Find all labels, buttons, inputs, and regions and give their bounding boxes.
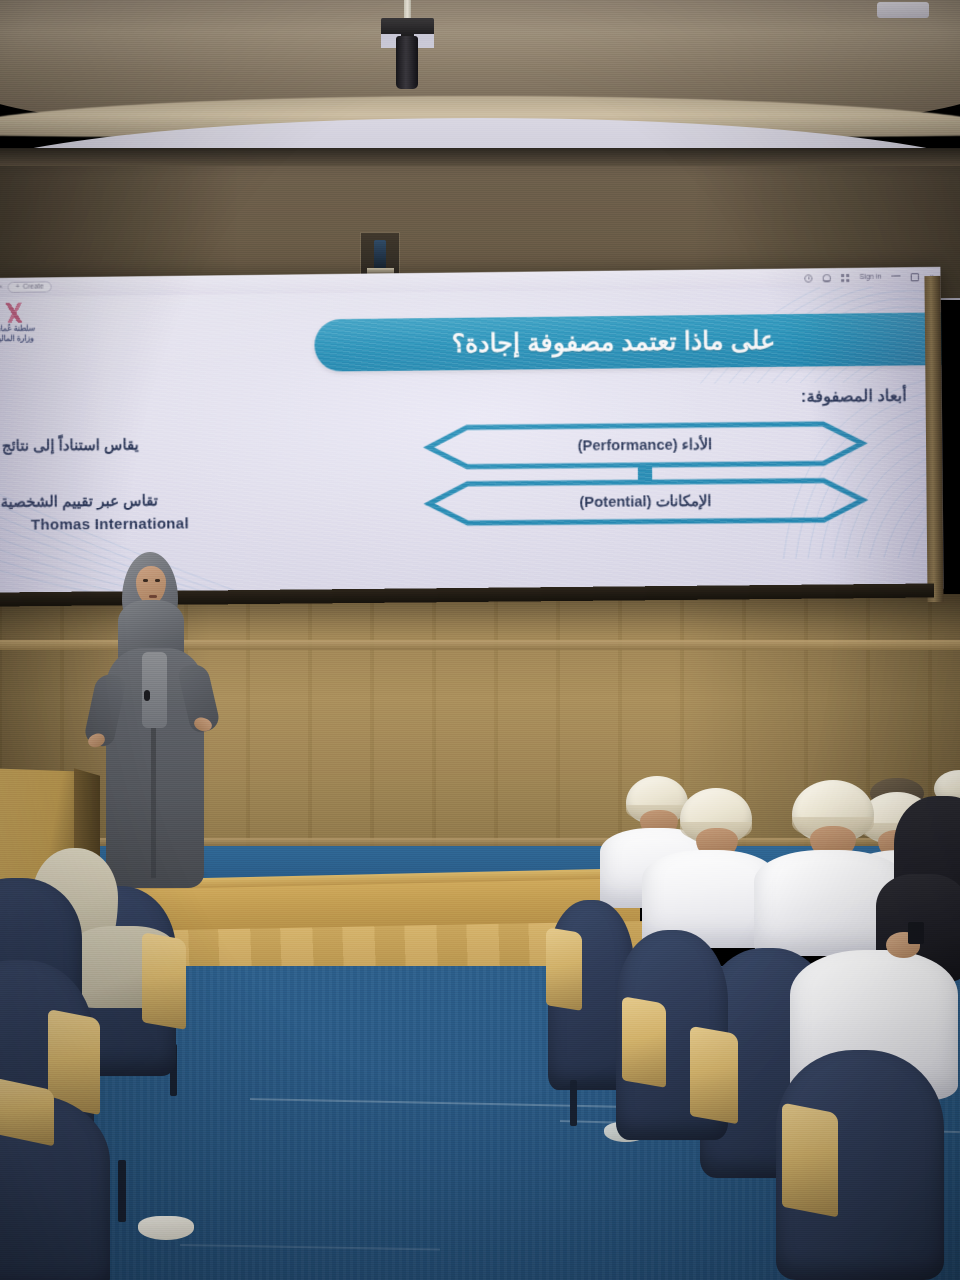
ceiling-projector [396, 36, 418, 89]
slide-subtitle: أبعاد المصفوفة: [801, 386, 907, 407]
seat-armrest-right-1 [546, 927, 582, 1011]
create-button-label: Create [23, 283, 44, 290]
seat-leg-left-3 [118, 1160, 126, 1222]
seat-armrest-left-4 [0, 1078, 54, 1147]
maximize-icon[interactable] [911, 273, 919, 281]
presenter-lapel-mic [144, 690, 150, 701]
screen-frame-right [924, 276, 943, 602]
presenter-speaker [88, 552, 234, 886]
phone-6 [908, 922, 924, 944]
dimension-chevron-potential: الإمكانات (Potential) [407, 477, 886, 527]
seat-armrest-right-4 [782, 1103, 838, 1218]
presenter-eye-right [155, 579, 160, 582]
sign-in-button[interactable]: Sign in [859, 274, 881, 281]
app-grid-icon[interactable] [841, 273, 849, 281]
auditorium-photo-scene: × + Create Sign in × [0, 0, 960, 1280]
sandal-left [138, 1216, 194, 1240]
ceiling-vent-right [877, 2, 929, 18]
dimension-label-performance: الأداء (Performance) [578, 437, 712, 454]
dimension-chevron-performance: الأداء (Performance) [406, 420, 885, 470]
presenter-mouth [149, 595, 157, 598]
niche-device [374, 240, 386, 269]
projection-screen: × + Create Sign in × [0, 267, 944, 596]
seat-armrest-right-3 [690, 1026, 738, 1124]
plus-icon: + [16, 284, 20, 291]
projector-mount-stem [404, 0, 411, 20]
clock-history-icon[interactable] [804, 274, 812, 282]
ministry-logo: سلطنة عُمان وزارة المالية [0, 302, 51, 355]
tab-close-icon[interactable]: × [0, 284, 3, 291]
bell-notification-icon[interactable] [823, 274, 831, 282]
dimension-label-potential: الإمكانات (Potential) [579, 493, 711, 510]
slide-canvas: سلطنة عُمان وزارة المالية على ماذا تعتمد… [0, 286, 944, 596]
khanjar-icon [0, 303, 31, 323]
seat-armrest-left-2 [142, 932, 186, 1030]
slide-title: على ماذا تعتمد مصفوفة إجادة؟ [308, 324, 920, 361]
minimize-icon[interactable] [892, 275, 901, 276]
seat-armrest-right-2 [622, 996, 666, 1088]
presenter-eye-left [143, 579, 148, 582]
slide-title-banner: على ماذا تعتمد مصفوفة إجادة؟ [314, 312, 943, 371]
dimension-note-potential: تقاس عبر تقييم الشخصية السيكومترية [0, 492, 158, 512]
logo-line-1: سلطنة عُمان [0, 324, 35, 333]
dimension-note-potential-source: Thomas International [31, 515, 189, 533]
seat-leg-right-1 [570, 1080, 577, 1126]
wall-shadow-band [0, 148, 960, 166]
create-button[interactable]: + Create [8, 281, 52, 293]
logo-line-2: وزارة المالية [0, 334, 34, 343]
dimension-note-performance: يقاس استناداً إلى نتائج تقييم الأداء [0, 436, 139, 456]
